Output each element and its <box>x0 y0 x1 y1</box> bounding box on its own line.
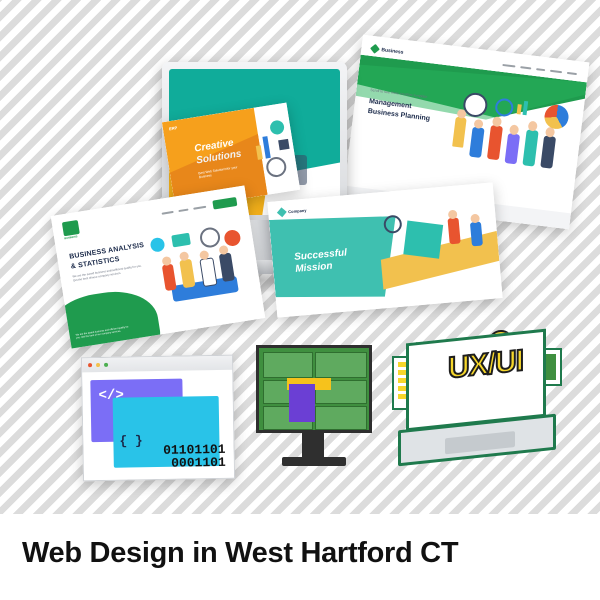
browser-window-code: </> { } 01101101 0001101 <box>81 355 235 482</box>
green-monitor-stand <box>302 433 324 459</box>
green-monitor-frame <box>256 345 372 433</box>
screenshot-canvas: Business Scroll to see more creative tem… <box>0 0 600 600</box>
browser-content: </> { } 01101101 0001101 <box>82 370 234 481</box>
laptop-trackpad <box>445 431 515 454</box>
card-management-heading-2: Business Planning <box>367 108 430 123</box>
page-title: Web Design in West Hartford CT <box>22 537 458 570</box>
binary-text: 01101101 0001101 <box>163 443 226 471</box>
code-braces-icon: { } <box>119 433 143 448</box>
green-monitor-highlight-purple <box>289 384 315 422</box>
card-management-logo: Business <box>381 47 404 56</box>
card-mission-logo: Company <box>288 208 307 215</box>
green-monitor-base <box>282 457 346 466</box>
ux-ui-laptop: UX/UI <box>392 330 564 480</box>
green-monitor <box>256 345 372 475</box>
mockup-card-mission: Company Successful Mission <box>267 182 502 317</box>
